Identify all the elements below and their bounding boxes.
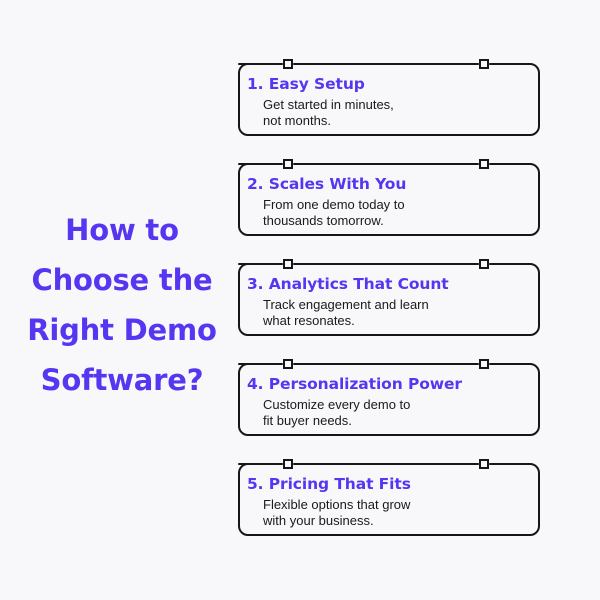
card-body: Customize every demo to fit buyer needs. [263, 397, 532, 428]
card-body-line: with your business. [263, 513, 532, 529]
connector-node-left-icon [284, 260, 292, 268]
connector-node-right-icon [480, 460, 488, 468]
card-body: From one demo today to thousands tomorro… [263, 197, 532, 228]
page-title-line: How to [12, 205, 232, 255]
card-body-line: what resonates. [263, 313, 532, 329]
card-text: 5. Pricing That Fits Flexible options th… [247, 475, 532, 528]
card-body-line: fit buyer needs. [263, 413, 532, 429]
card-body: Track engagement and learn what resonate… [263, 297, 532, 328]
card-body: Flexible options that grow with your bus… [263, 497, 532, 528]
card-heading: 4. Personalization Power [247, 375, 532, 394]
list-item[interactable]: 4. Personalization Power Customize every… [232, 355, 544, 443]
connector-node-right-icon [480, 360, 488, 368]
infographic-canvas: How to Choose the Right Demo Software? 1… [0, 0, 600, 600]
connector-node-left-icon [284, 360, 292, 368]
connector-node-left-icon [284, 160, 292, 168]
page-title: How to Choose the Right Demo Software? [12, 205, 232, 405]
card-body-line: not months. [263, 113, 532, 129]
connector-node-right-icon [480, 60, 488, 68]
connector-node-right-icon [480, 260, 488, 268]
card-text: 2. Scales With You From one demo today t… [247, 175, 532, 228]
card-body-line: Get started in minutes, [263, 97, 532, 113]
card-body-line: From one demo today to [263, 197, 532, 213]
list-item[interactable]: 5. Pricing That Fits Flexible options th… [232, 455, 544, 543]
page-title-line: Choose the [12, 255, 232, 305]
card-heading: 2. Scales With You [247, 175, 532, 194]
card-body-line: Flexible options that grow [263, 497, 532, 513]
card-body-line: Customize every demo to [263, 397, 532, 413]
card-text: 1. Easy Setup Get started in minutes, no… [247, 75, 532, 128]
card-text: 4. Personalization Power Customize every… [247, 375, 532, 428]
connector-node-left-icon [284, 60, 292, 68]
connector-node-left-icon [284, 460, 292, 468]
card-body-line: Track engagement and learn [263, 297, 532, 313]
page-title-line: Right Demo [12, 305, 232, 355]
card-heading: 5. Pricing That Fits [247, 475, 532, 494]
list-item[interactable]: 3. Analytics That Count Track engagement… [232, 255, 544, 343]
steps-list: 1. Easy Setup Get started in minutes, no… [232, 55, 544, 543]
card-body-line: thousands tomorrow. [263, 213, 532, 229]
list-item[interactable]: 2. Scales With You From one demo today t… [232, 155, 544, 243]
card-heading: 3. Analytics That Count [247, 275, 532, 294]
card-heading: 1. Easy Setup [247, 75, 532, 94]
card-body: Get started in minutes, not months. [263, 97, 532, 128]
card-text: 3. Analytics That Count Track engagement… [247, 275, 532, 328]
connector-node-right-icon [480, 160, 488, 168]
page-title-line: Software? [12, 355, 232, 405]
list-item[interactable]: 1. Easy Setup Get started in minutes, no… [232, 55, 544, 143]
